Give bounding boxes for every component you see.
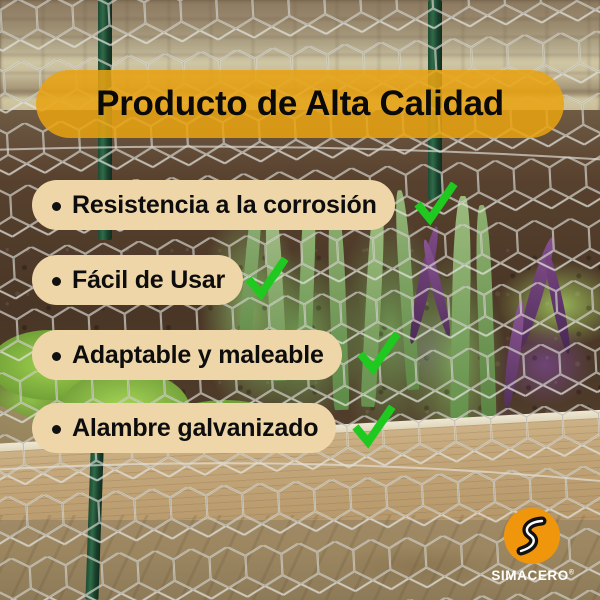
check-icon — [350, 405, 396, 451]
logo-wordmark: SIMACERO® — [490, 568, 576, 583]
bullet-item-1: Resistencia a la corrosión — [32, 180, 395, 230]
page-title: Producto de Alta Calidad — [96, 84, 504, 124]
bullet-dot-icon — [52, 425, 61, 434]
check-icon — [412, 182, 458, 228]
title-banner: Producto de Alta Calidad — [36, 70, 564, 138]
bullet-dot-icon — [52, 202, 61, 211]
promo-graphic: Producto de Alta Calidad Resistencia a l… — [0, 0, 600, 600]
bullet-item-2: Fácil de Usar — [32, 255, 243, 305]
bullet-item-3: Adaptable y maleable — [32, 330, 342, 380]
bullet-item-4: Alambre galvanizado — [32, 403, 336, 453]
bullet-label: Adaptable y maleable — [72, 341, 324, 370]
bullet-dot-icon — [52, 277, 61, 286]
check-icon — [355, 332, 401, 378]
bullet-label: Alambre galvanizado — [72, 414, 318, 443]
bullet-label: Resistencia a la corrosión — [72, 191, 377, 220]
trademark-mark: ® — [569, 570, 575, 577]
logo-wordmark-text: SIMACERO — [491, 568, 569, 583]
bullet-dot-icon — [52, 352, 61, 361]
bullet-label: Fácil de Usar — [72, 266, 225, 295]
simacero-s-logo-icon — [504, 508, 560, 564]
check-icon — [243, 257, 289, 303]
brand-logo: SIMACERO® — [496, 508, 568, 594]
